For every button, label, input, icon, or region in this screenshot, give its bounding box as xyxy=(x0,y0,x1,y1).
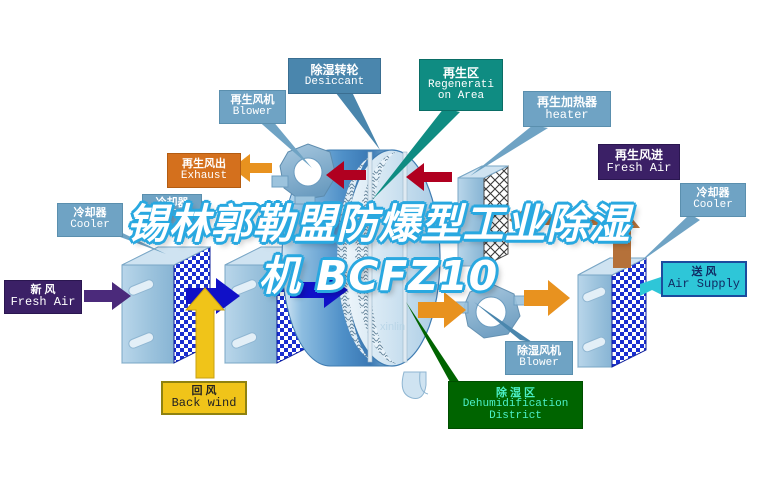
callout-desiccant-wheel-label-en: Desiccant xyxy=(289,77,380,89)
callout-air-supply: 送 风Air Supply xyxy=(661,261,747,297)
callout-fresh-air-in: 新 风Fresh Air xyxy=(4,280,82,314)
arrow-dehum-2 xyxy=(524,280,570,316)
callout-regen-exhaust-label-cn: 再生风出 xyxy=(168,159,240,171)
callout-cooler-mid: 冷却器Cooler xyxy=(142,194,202,226)
callout-regen-area: 再生区Regenerati on Area xyxy=(419,59,503,111)
callout-regen-fresh-air: 再生风进Fresh Air xyxy=(598,144,680,180)
callout-regen-fresh-air-label-en: Fresh Air xyxy=(599,162,679,175)
callout-regen-blower-label-en: Blower xyxy=(220,107,285,119)
callout-regen-area-label-cn: 再生区 xyxy=(420,67,502,80)
callout-air-supply-label-en: Air Supply xyxy=(663,278,745,291)
callout-regen-blower: 再生风机Blower xyxy=(219,90,286,124)
callout-desiccant-wheel-label-cn: 除湿转轮 xyxy=(289,64,380,77)
arrow-regen-fresh-horizontal xyxy=(509,206,625,234)
callout-regen-exhaust-label-en: Exhaust xyxy=(168,171,240,183)
callout-regen-heater: 再生加热器heater xyxy=(523,91,611,127)
callout-cooler-right: 冷却器Cooler xyxy=(680,183,746,217)
callout-regen-heater-label-en: heater xyxy=(524,109,610,122)
callout-desiccant-wheel: 除湿转轮Desiccant xyxy=(288,58,381,94)
callout-back-wind: 回 风Back wind xyxy=(161,381,247,415)
regeneration-heater xyxy=(458,166,508,266)
supply-cooler-unit xyxy=(578,258,646,367)
callout-back-wind-label-en: Back wind xyxy=(163,397,245,410)
callout-cooler-left: 冷却器Cooler xyxy=(57,203,123,237)
callout-fresh-air-in-label-en: Fresh Air xyxy=(5,296,81,309)
callout-dehum-blower-label-en: Blower xyxy=(506,358,572,370)
callout-dehum-blower: 除湿风机Blower xyxy=(505,341,573,375)
callout-dehum-district-label-en: Dehumidification District xyxy=(449,399,582,422)
diagram-canvas: xinlin xyxy=(0,0,757,488)
callout-regen-area-label-en: Regenerati on Area xyxy=(420,80,502,103)
callout-dehum-district: 除 湿 区Dehumidification District xyxy=(448,381,583,429)
callout-cooler-mid-label-en: Cooler xyxy=(143,210,201,222)
svg-text:xinlin: xinlin xyxy=(380,321,405,333)
callout-regen-exhaust: 再生风出Exhaust xyxy=(167,153,241,188)
callout-cooler-left-label-en: Cooler xyxy=(58,220,122,232)
callout-cooler-right-label-en: Cooler xyxy=(681,200,745,212)
